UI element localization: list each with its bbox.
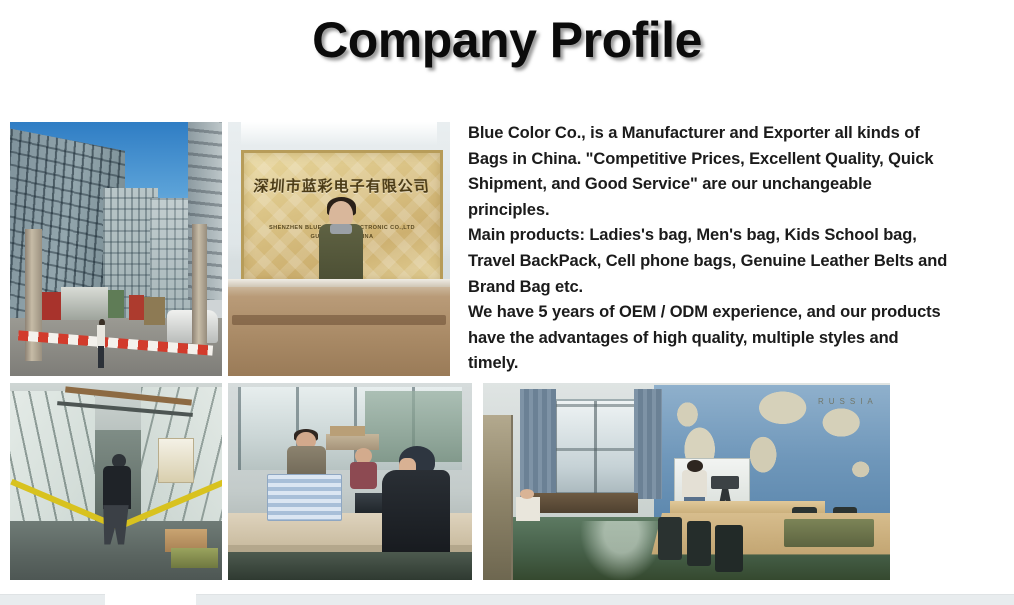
floor-light-reflection [581,521,662,580]
reception-scene: 深圳市蓝彩电子有限公司 SHENZHEN BLUE COLOR ELECTRON… [228,122,450,376]
worker-body [103,466,131,509]
reception-counter-top-edge [228,279,450,287]
meeting-room-scene: RUSSIA [483,383,890,580]
meeting-room-window [552,399,646,498]
office-worker-3-body [350,462,377,490]
reception-counter-groove [232,315,445,325]
page-title-container: Company Profile [0,14,1014,67]
office-shelf-box [330,426,364,436]
standing-person-head [687,460,703,472]
photo-reception-sign: 深圳市蓝彩电子有限公司 SHENZHEN BLUE COLOR ELECTRON… [228,122,450,376]
blue-stacking-trays [267,474,342,521]
photo-factory-corridor [10,383,222,580]
cardboard-box-lower [171,548,218,568]
side-table [532,493,638,513]
gate-pillar-right [192,224,207,346]
conference-chair-near-3 [715,525,743,572]
truck-container-white [61,287,108,320]
ceiling-light-glow [241,122,436,145]
photo-office-workspace [228,383,472,580]
company-profile-text: Blue Color Co., is a Manufacturer and Ex… [468,121,950,377]
pedestrian-legs [98,346,104,369]
curtain-right [634,389,662,499]
reception-counter [228,279,450,376]
conference-chair-near-1 [658,517,682,560]
bottom-chrome-bar-left[interactable] [0,594,105,605]
factory-scene [10,122,222,376]
truck-red-b [129,295,144,320]
company-sign-chinese: 深圳市蓝彩电子有限公司 [243,175,441,196]
seated-person-body [516,497,540,521]
bottom-chrome-bar-right[interactable] [196,594,1014,605]
office-scene [228,383,472,580]
office-floor [228,552,472,580]
conference-chair-near-2 [687,521,711,566]
profile-paragraph-2: Main products: Ladies's bag, Men's bag, … [468,223,950,300]
standing-person-body [682,470,706,498]
seated-person-head [520,489,534,499]
profile-paragraph-1: Blue Color Co., is a Manufacturer and Ex… [468,121,950,223]
corridor-wall-poster [158,438,194,483]
corridor-scene [10,383,222,580]
profile-paragraph-3: We have 5 years of OEM / ODM experience,… [468,300,950,377]
truck-cargo [144,297,165,325]
page-title: Company Profile [312,14,702,67]
camera-head [711,476,739,490]
photo-meeting-room: RUSSIA [483,383,890,580]
photo-factory-exterior [10,122,222,376]
curtain-left [520,389,557,503]
receptionist-scarf [330,224,352,234]
world-map-region-label: RUSSIA [818,397,878,406]
equipment-case [784,519,874,547]
office-shelf [326,434,380,450]
display-cabinet [483,415,513,580]
truck-green [108,290,125,318]
